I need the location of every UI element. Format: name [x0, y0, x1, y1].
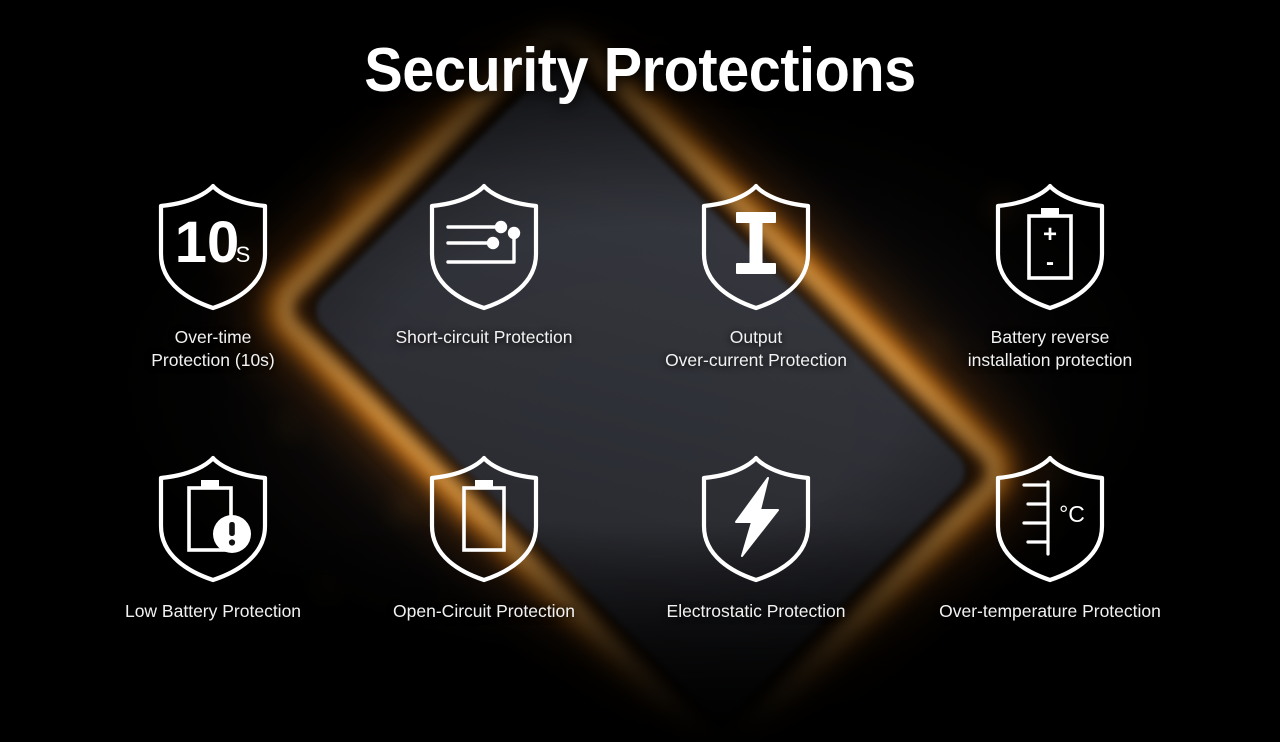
battery-minus-symbol: -	[1046, 249, 1054, 276]
feature-label: Short-circuit Protection	[349, 326, 619, 349]
shield-unit-seconds: S	[236, 242, 251, 267]
feature-card-over-temperature[interactable]: °C Over-temperature Protection	[915, 452, 1185, 623]
feature-label: Electrostatic Protection	[621, 600, 891, 623]
feature-card-low-battery[interactable]: Low Battery Protection	[78, 452, 348, 623]
feature-label: Low Battery Protection	[78, 600, 348, 623]
feature-card-battery-reverse[interactable]: + - Battery reverse installation protect…	[915, 180, 1185, 373]
feature-card-short-circuit[interactable]: Short-circuit Protection	[349, 180, 619, 349]
temperature-unit-label: °C	[1059, 501, 1085, 527]
shield-battery-polarity-icon: + -	[988, 180, 1112, 312]
feature-card-open-circuit[interactable]: Open-Circuit Protection	[349, 452, 619, 623]
feature-label: Battery reverse installation protection	[915, 326, 1185, 373]
shield-lightning-bolt-icon	[694, 452, 818, 584]
shield-timer-10s-icon: 10 S	[151, 180, 275, 312]
shield-thermometer-icon: °C	[988, 452, 1112, 584]
feature-label: Open-Circuit Protection	[349, 600, 619, 623]
page-title: Security Protections	[45, 38, 1235, 103]
shield-current-i-icon	[694, 180, 818, 312]
shield-empty-battery-icon	[422, 452, 546, 584]
infographic-stage: Security Protections 10 S Over-time Prot…	[0, 0, 1280, 742]
shield-short-circuit-icon	[422, 180, 546, 312]
battery-plus-symbol: +	[1043, 221, 1057, 248]
feature-label: Output Over-current Protection	[621, 326, 891, 373]
protection-feature-grid: 10 S Over-time Protection (10s)	[0, 0, 1280, 742]
shield-value-10: 10	[175, 210, 240, 275]
shield-low-battery-warning-icon	[151, 452, 275, 584]
feature-label: Over-temperature Protection	[915, 600, 1185, 623]
feature-card-over-time[interactable]: 10 S Over-time Protection (10s)	[78, 180, 348, 373]
feature-label: Over-time Protection (10s)	[78, 326, 348, 373]
feature-card-electrostatic[interactable]: Electrostatic Protection	[621, 452, 891, 623]
feature-card-output-over-current[interactable]: Output Over-current Protection	[621, 180, 891, 373]
